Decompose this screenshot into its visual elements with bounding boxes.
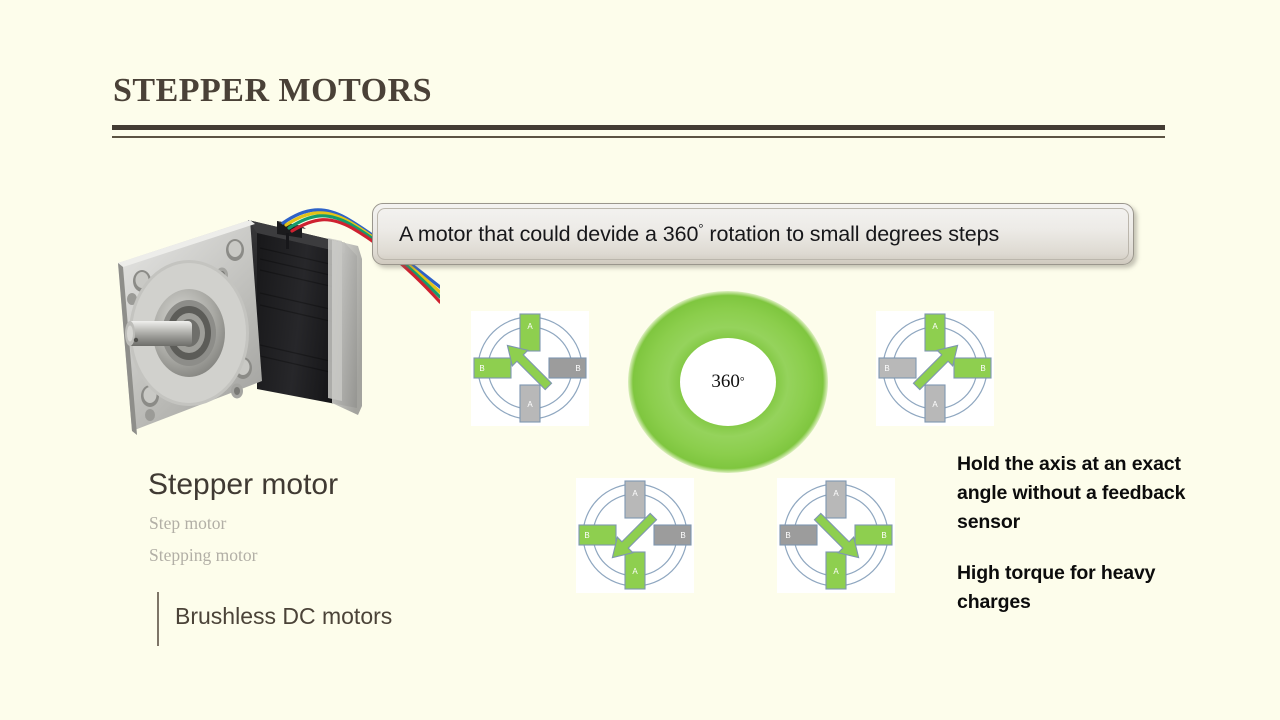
coil-label-top: A <box>932 322 938 331</box>
callout-text: A motor that could devide a 360° rotatio… <box>399 221 999 247</box>
coil-label-left: B <box>584 531 589 540</box>
coil-label-bottom: A <box>527 400 533 409</box>
definition-callout: A motor that could devide a 360° rotatio… <box>372 203 1134 265</box>
coil-label-right: B <box>980 364 985 373</box>
slide-root: STEPPER MOTORS <box>0 0 1280 720</box>
motor-name-title: Stepper motor <box>148 468 338 502</box>
step-diagram-2: A B A B <box>876 311 994 426</box>
page-title: STEPPER MOTORS <box>113 72 432 110</box>
coil-label-left: B <box>785 531 790 540</box>
feature-note-2: High torque for heavy charges <box>957 559 1207 617</box>
donut-degree-icon: ° <box>740 375 745 389</box>
subtitle-accent-bar <box>157 592 159 646</box>
donut-label: 360° <box>628 291 828 473</box>
motor-body <box>248 220 362 415</box>
coil-label-bottom: A <box>632 567 638 576</box>
coil-label-bottom: A <box>932 400 938 409</box>
step-diagram-4: A B A B <box>777 478 895 593</box>
coil-label-left: B <box>884 364 889 373</box>
feature-note-1: Hold the axis at an exact angle without … <box>957 450 1207 537</box>
motor-alias-2: Stepping motor <box>149 545 257 566</box>
coil-label-left: B <box>479 364 484 373</box>
coil-label-top: A <box>833 489 839 498</box>
motor-shaft <box>125 321 192 346</box>
coil-top <box>520 314 540 351</box>
coil-top <box>625 481 645 518</box>
callout-text-before: A motor that could devide a 360 <box>399 222 698 246</box>
callout-text-after: rotation to small degrees steps <box>704 222 1000 246</box>
coil-label-top: A <box>632 489 638 498</box>
coil-label-right: B <box>680 531 685 540</box>
coil-label-right: B <box>575 364 580 373</box>
motor-subtitle: Brushless DC motors <box>175 603 392 630</box>
coil-label-bottom: A <box>833 567 839 576</box>
coil-label-top: A <box>527 322 533 331</box>
coil-label-right: B <box>881 531 886 540</box>
title-rule-thick <box>112 125 1165 130</box>
coil-top <box>925 314 945 351</box>
step-diagram-3: A B A B <box>576 478 694 593</box>
motor-alias-1: Step motor <box>149 513 226 534</box>
title-rule-thin <box>112 136 1165 138</box>
step-diagram-1: A B A B <box>471 311 589 426</box>
coil-top <box>826 481 846 518</box>
donut-value: 360 <box>711 371 740 393</box>
